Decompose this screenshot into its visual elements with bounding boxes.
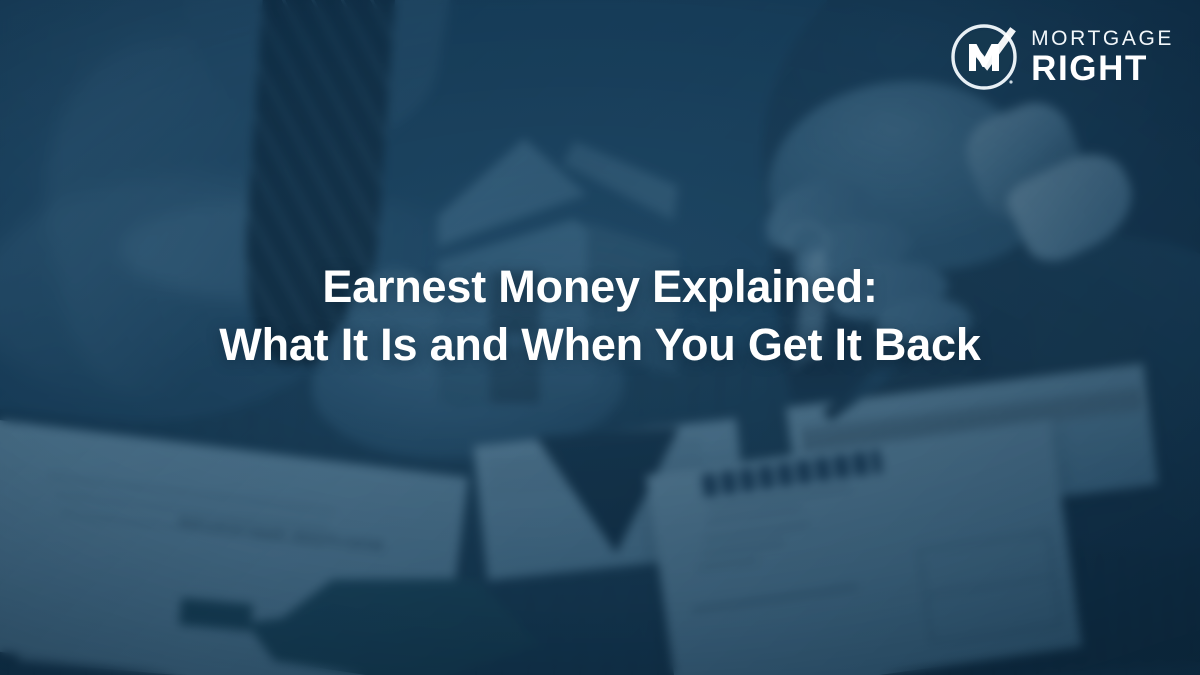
hero-banner: MORTGAGE APPLICATION MORTGAGE RIGHT Earn… [0, 0, 1200, 675]
hero-headline: Earnest Money Explained: What It Is and … [0, 258, 1200, 373]
logo-word-right: RIGHT [1031, 51, 1174, 86]
circle-m-checkmark-logo-icon [951, 24, 1017, 90]
logo-wordmark: MORTGAGE RIGHT [1031, 28, 1174, 86]
headline-line-2: What It Is and When You Get It Back [60, 316, 1140, 374]
mortgage-right-logo[interactable]: MORTGAGE RIGHT [951, 24, 1174, 90]
headline-line-1: Earnest Money Explained: [322, 261, 877, 312]
logo-word-mortgage: MORTGAGE [1031, 28, 1174, 49]
